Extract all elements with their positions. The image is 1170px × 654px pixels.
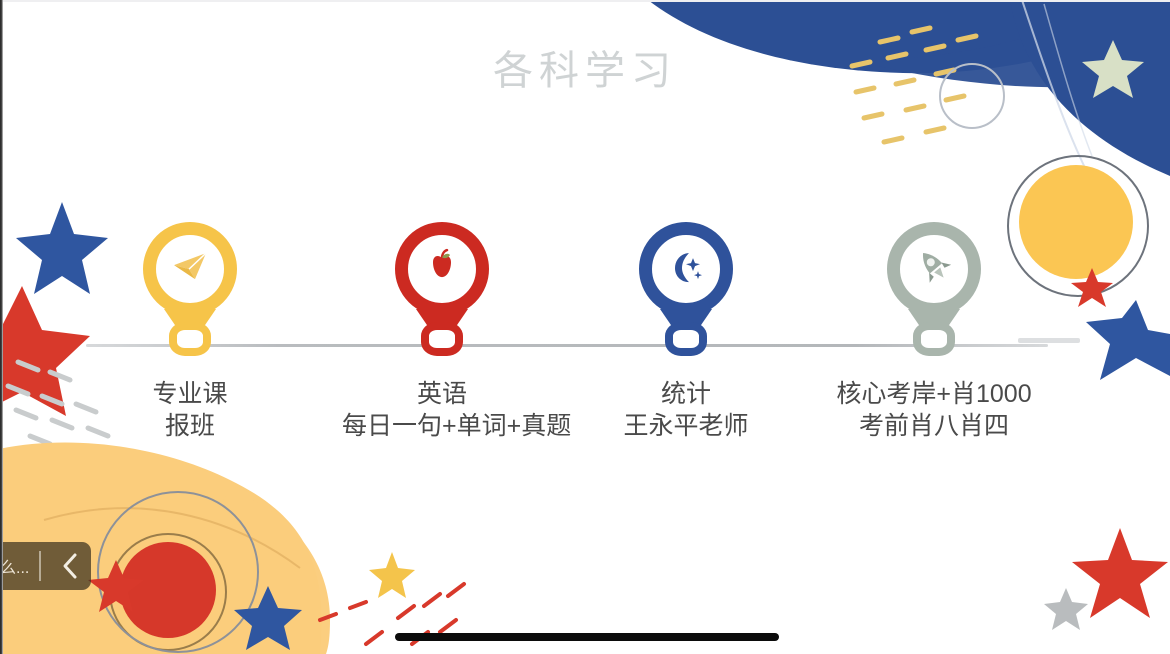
timeline-milestone-1[interactable]: 专业课 报班 <box>90 222 290 442</box>
milestone-label-1: 专业课 报班 <box>90 378 290 442</box>
rocket-pin <box>887 222 981 316</box>
milestone-node-4 <box>913 322 955 356</box>
timeline-milestone-4[interactable]: 核心考岸+肖1000 考前肖八肖四 <box>834 222 1034 442</box>
frame-left-edge <box>0 0 3 654</box>
rocket-icon <box>900 245 968 291</box>
milestone-label-3-line1: 统计 <box>661 380 711 408</box>
milestone-label-3-line2: 王永平老师 <box>586 410 786 442</box>
video-slide: 各科学习 专业课 报班 <box>0 0 1170 654</box>
player-truncated-label: 么... <box>0 554 29 578</box>
milestone-label-1-line2: 报班 <box>90 410 290 442</box>
frame-top-edge <box>0 0 1170 2</box>
apple-pin <box>395 222 489 316</box>
timeline-milestones: 专业课 报班 英语 每日一句+单词+真题 <box>0 0 1170 654</box>
moon-stars-pin <box>639 222 733 316</box>
timeline-milestone-2[interactable]: 英语 每日一句+单词+真题 <box>342 222 542 442</box>
back-button[interactable] <box>55 549 85 583</box>
milestone-label-1-line1: 专业课 <box>152 380 227 408</box>
control-divider <box>39 551 41 581</box>
milestone-label-4-line1: 核心考岸+肖1000 <box>836 380 1031 408</box>
milestone-node-1 <box>169 322 211 356</box>
apple-icon <box>408 246 476 290</box>
milestone-label-4: 核心考岸+肖1000 考前肖八肖四 <box>834 378 1034 442</box>
paper-plane-icon <box>156 246 224 290</box>
milestone-label-4-line2: 考前肖八肖四 <box>834 410 1034 442</box>
milestone-label-2-line1: 英语 <box>417 380 467 408</box>
player-control-pill[interactable]: 么... <box>0 542 91 590</box>
paper-plane-pin <box>143 222 237 316</box>
home-indicator-bar[interactable] <box>395 633 779 641</box>
milestone-node-2 <box>421 322 463 356</box>
milestone-label-2: 英语 每日一句+单词+真题 <box>342 378 542 442</box>
milestone-node-3 <box>665 322 707 356</box>
timeline-milestone-3[interactable]: 统计 王永平老师 <box>586 222 786 442</box>
milestone-label-3: 统计 王永平老师 <box>586 378 786 442</box>
moon-stars-icon <box>652 246 720 290</box>
milestone-label-2-line2: 每日一句+单词+真题 <box>342 410 542 442</box>
chevron-left-icon <box>61 552 79 580</box>
